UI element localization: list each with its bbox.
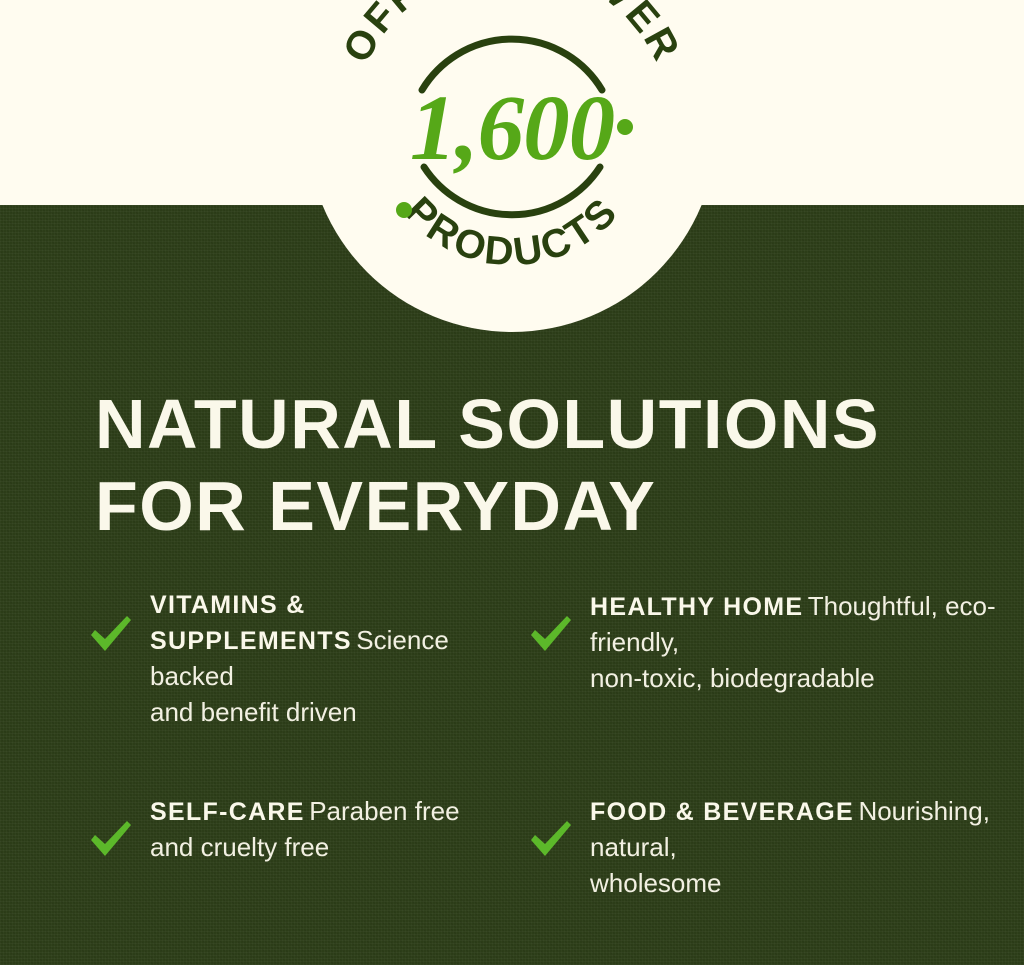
headline-line-1: NATURAL SOLUTIONS xyxy=(95,383,975,465)
offering-over-badge: OFFERING OVER PRODUCTS 1,600 xyxy=(307,0,717,332)
feature-item-healthy-home: HEALTHY HOME Thoughtful, eco-friendly, n… xyxy=(520,588,1024,793)
checkmark-icon xyxy=(528,793,590,859)
checkmark-icon xyxy=(88,588,150,654)
feature-title: FOOD & BEVERAGE xyxy=(590,798,854,826)
feature-item-food-beverage: FOOD & BEVERAGE Nourishing, natural, who… xyxy=(520,793,1024,901)
feature-list: VITAMINS & SUPPLEMENTS Science backed an… xyxy=(0,588,1024,901)
headline-line-2: FOR EVERYDAY xyxy=(95,465,975,547)
badge-dot-left-icon xyxy=(396,202,412,218)
badge-bottom-arc-text: PRODUCTS xyxy=(397,189,627,275)
badge-top-arc-text: OFFERING OVER xyxy=(335,0,689,70)
badge-product-count: 1,600 xyxy=(410,77,614,180)
promo-graphic: OFFERING OVER PRODUCTS 1,600 NATURAL SOL… xyxy=(0,0,1024,965)
feature-title: SELF-CARE xyxy=(150,798,305,826)
checkmark-icon xyxy=(528,588,590,654)
feature-item-vitamins-supplements: VITAMINS & SUPPLEMENTS Science backed an… xyxy=(0,588,520,793)
feature-title: HEALTHY HOME xyxy=(590,593,803,621)
checkmark-icon xyxy=(88,793,150,859)
feature-title: VITAMINS & SUPPLEMENTS xyxy=(150,591,352,655)
feature-item-self-care: SELF-CARE Paraben free and cruelty free xyxy=(0,793,520,901)
badge-dot-right-icon xyxy=(617,119,633,135)
page-title: NATURAL SOLUTIONS FOR EVERYDAY xyxy=(95,383,975,547)
